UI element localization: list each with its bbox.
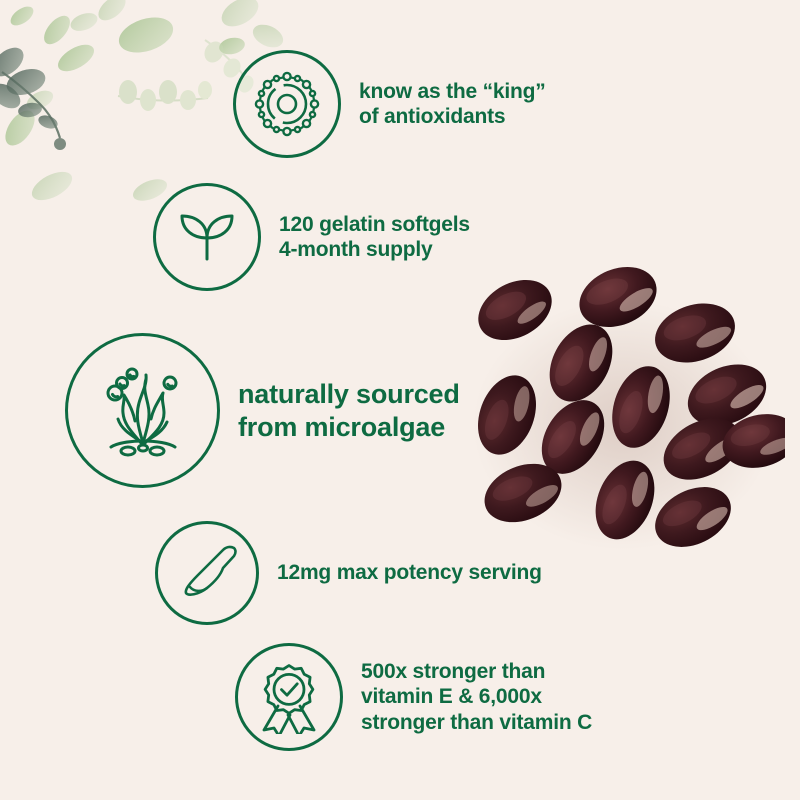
spoon-icon-badge [155, 521, 259, 625]
benefit-text-antioxidant: know as the “king” of antioxidants [359, 79, 546, 129]
award-ribbon-icon [252, 660, 326, 734]
molecule-antioxidant-icon-badge [233, 50, 341, 158]
benefit-row-antioxidant: know as the “king” of antioxidants [233, 50, 546, 158]
benefit-row-microalgae: naturally sourced from microalgae [65, 333, 460, 488]
sprout-leaf-icon-badge [153, 183, 261, 291]
benefit-text-softgels: 120 gelatin softgels 4-month supply [279, 212, 470, 262]
benefit-text-strength: 500x stronger than vitamin E & 6,000x st… [361, 659, 592, 735]
molecule-antioxidant-icon [251, 68, 323, 140]
sprout-leaf-icon [172, 202, 242, 272]
spoon-icon [172, 538, 242, 608]
benefit-row-potency: 12mg max potency serving [155, 521, 542, 625]
softgel-capsules-photo [455, 255, 785, 555]
award-ribbon-icon-badge [235, 643, 343, 751]
benefit-text-potency: 12mg max potency serving [277, 560, 542, 585]
benefit-text-microalgae: naturally sourced from microalgae [238, 378, 460, 443]
benefit-row-softgels: 120 gelatin softgels 4-month supply [153, 183, 470, 291]
algae-seaweed-icon [91, 359, 195, 463]
product-benefits-infographic: know as the “king” of antioxidants 120 g… [0, 0, 800, 800]
algae-seaweed-icon-badge [65, 333, 220, 488]
benefit-row-strength: 500x stronger than vitamin E & 6,000x st… [235, 643, 592, 751]
